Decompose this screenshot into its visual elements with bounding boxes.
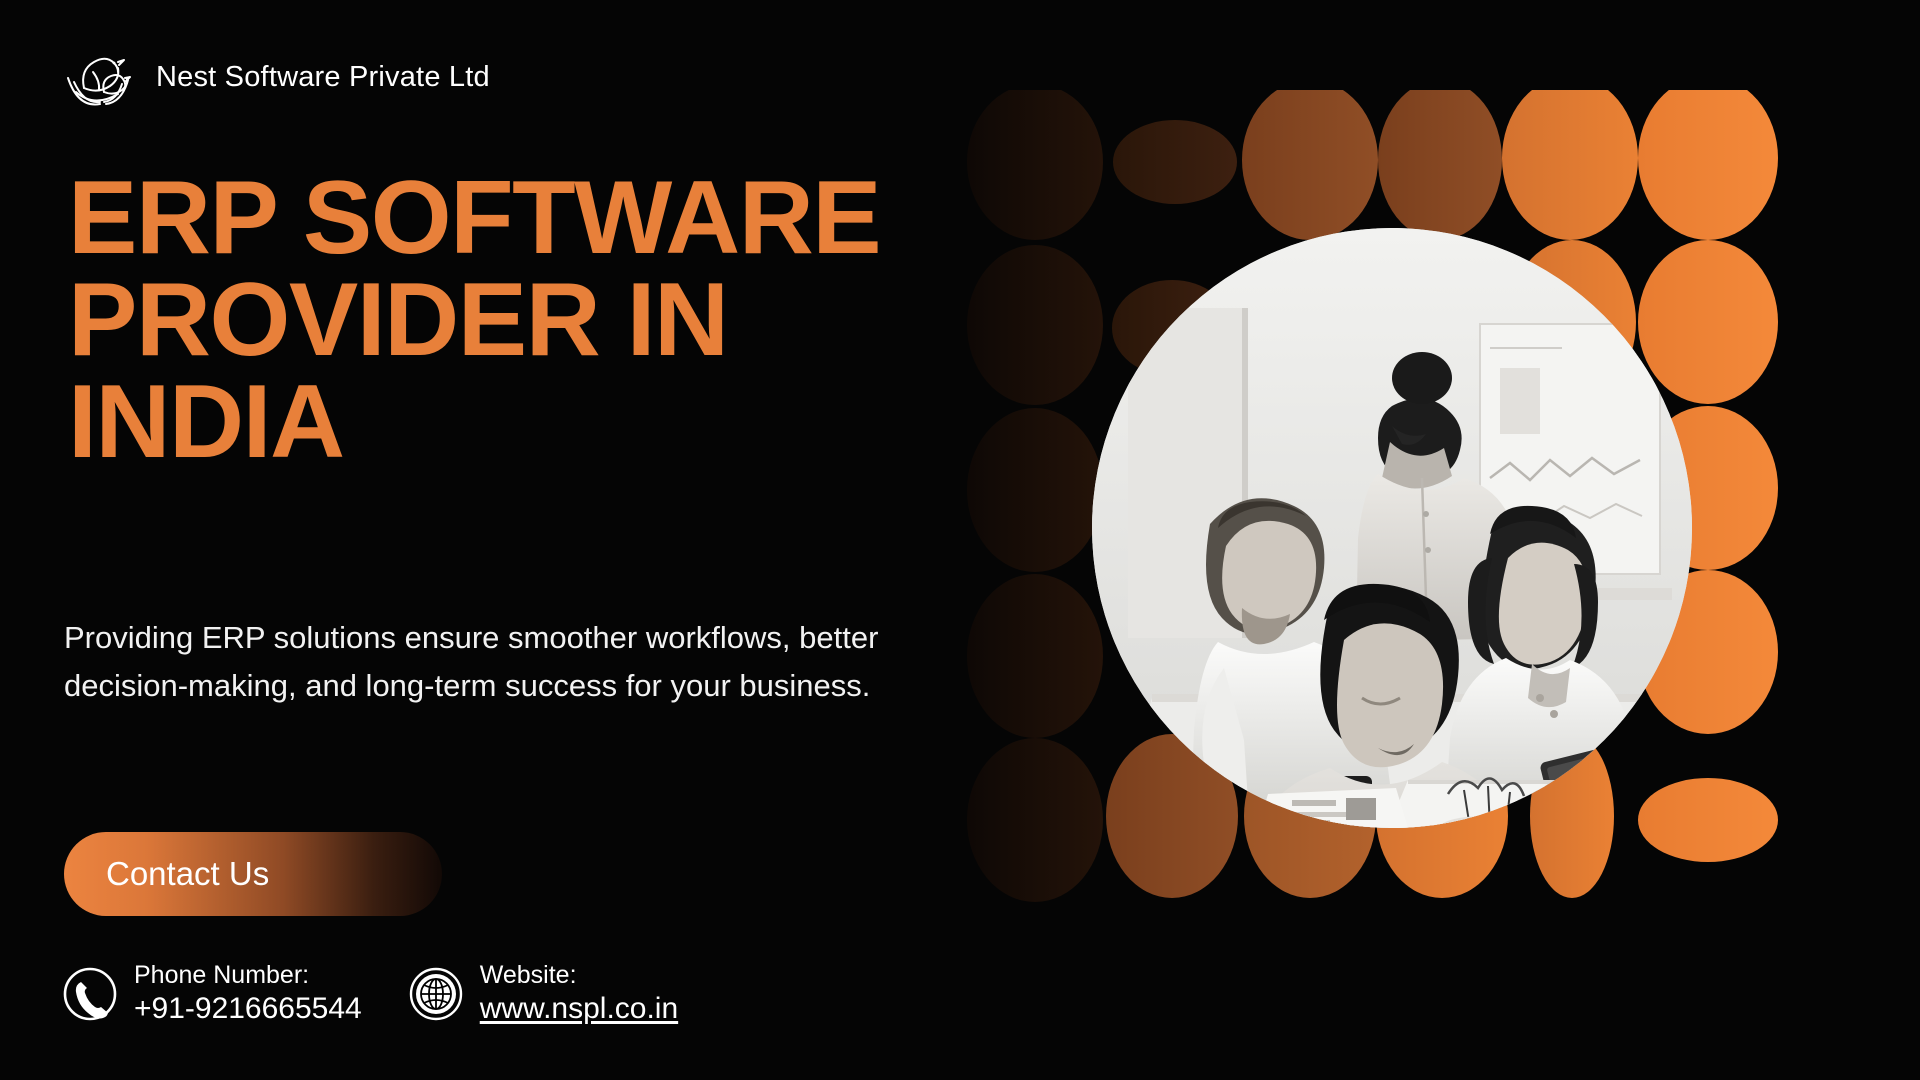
headline-line-2: PROVIDER IN: [68, 270, 1028, 372]
contact-item-phone[interactable]: Phone Number: +91-9216665544: [62, 960, 362, 1027]
website-label: Website:: [480, 960, 678, 991]
headline-line-1: ERP SOFTWARE: [68, 168, 1028, 270]
phone-value: +91-9216665544: [134, 991, 362, 1028]
brand-lockup: Nest Software Private Ltd: [62, 48, 490, 106]
hero-photo: [1092, 228, 1692, 828]
promo-banner: Nest Software Private Ltd ERP SOFTWARE P…: [0, 0, 1920, 1080]
contact-strip: Phone Number: +91-9216665544: [62, 960, 678, 1027]
website-value[interactable]: www.nspl.co.in: [480, 991, 678, 1028]
globe-icon: [408, 966, 464, 1022]
page-title: ERP SOFTWARE PROVIDER IN INDIA: [68, 168, 1028, 474]
contact-us-button[interactable]: Contact Us: [64, 832, 442, 916]
phone-icon: [62, 966, 118, 1022]
phone-label: Phone Number:: [134, 960, 362, 991]
brand-name: Nest Software Private Ltd: [156, 61, 490, 94]
subheadline-text: Providing ERP solutions ensure smoother …: [64, 614, 924, 711]
headline-line-3: INDIA: [68, 372, 1028, 474]
nest-birds-logo-icon: [62, 48, 134, 106]
contact-item-website[interactable]: Website: www.nspl.co.in: [408, 960, 678, 1027]
